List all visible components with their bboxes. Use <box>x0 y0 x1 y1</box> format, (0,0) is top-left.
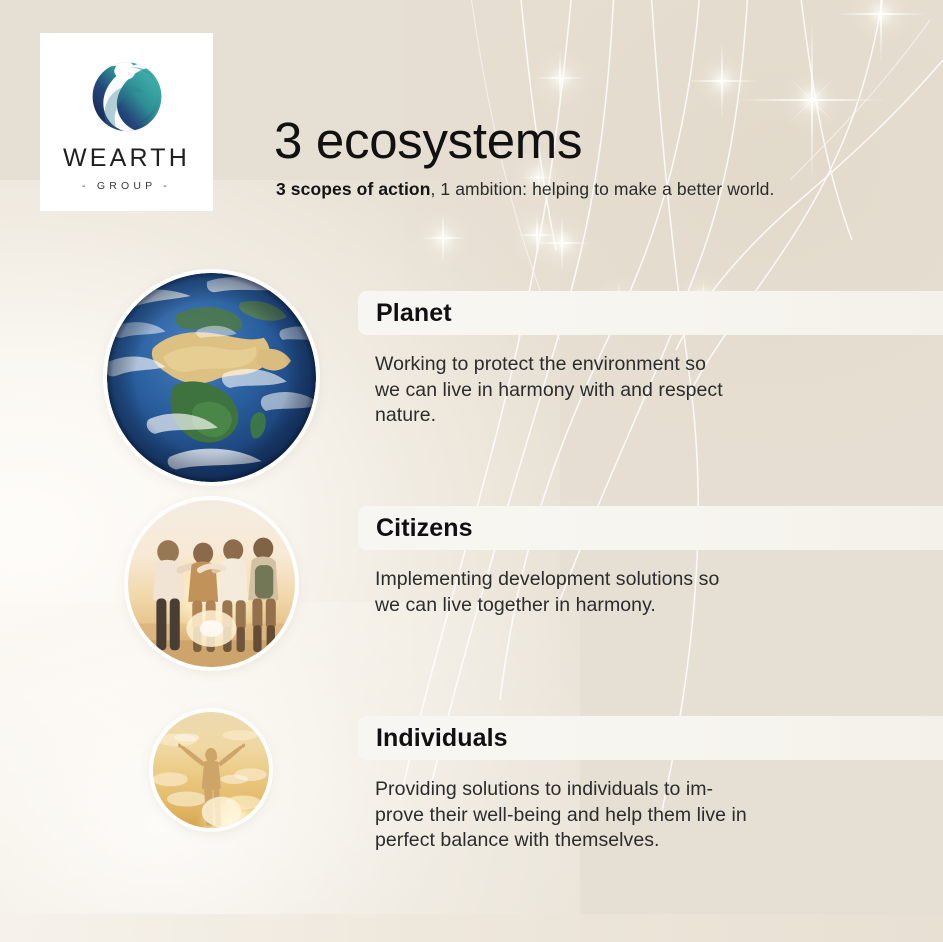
section-band-planet: Planet <box>358 291 943 335</box>
brand-logo-card[interactable]: WEARTH - GROUP - <box>40 33 213 211</box>
section-heading-citizens: Citizens <box>376 514 473 543</box>
section-body-planet: Working to protect the environment so we… <box>375 352 723 429</box>
section-band-citizens: Citizens <box>358 506 943 550</box>
brand-name: WEARTH <box>63 146 190 171</box>
subtitle-rest: , 1 ambition: helping to make a better w… <box>430 179 774 199</box>
earth-globe-photo-icon <box>107 273 316 482</box>
page-title: 3 ecosystems <box>274 113 582 168</box>
section-image-citizens <box>128 500 295 667</box>
section-image-planet <box>107 273 316 482</box>
section-image-individuals <box>153 712 269 828</box>
section-body-individuals: Providing solutions to individuals to im… <box>375 777 747 854</box>
section-body-citizens: Implementing development solutions so we… <box>375 567 719 618</box>
woman-arms-raised-sunset-photo-icon <box>153 712 269 828</box>
section-heading-individuals: Individuals <box>376 724 508 753</box>
wave-sphere-logo-icon <box>84 52 170 138</box>
subtitle-lead: 3 scopes of action <box>276 179 430 199</box>
section-heading-planet: Planet <box>376 299 452 328</box>
friends-sunset-photo-icon <box>128 500 295 667</box>
infographic-canvas: WEARTH - GROUP - 3 ecosystems 3 scopes o… <box>0 0 943 942</box>
page-subtitle: 3 scopes of action, 1 ambition: helping … <box>276 179 774 200</box>
brand-tagline: - GROUP - <box>82 180 171 192</box>
section-band-individuals: Individuals <box>358 716 943 760</box>
